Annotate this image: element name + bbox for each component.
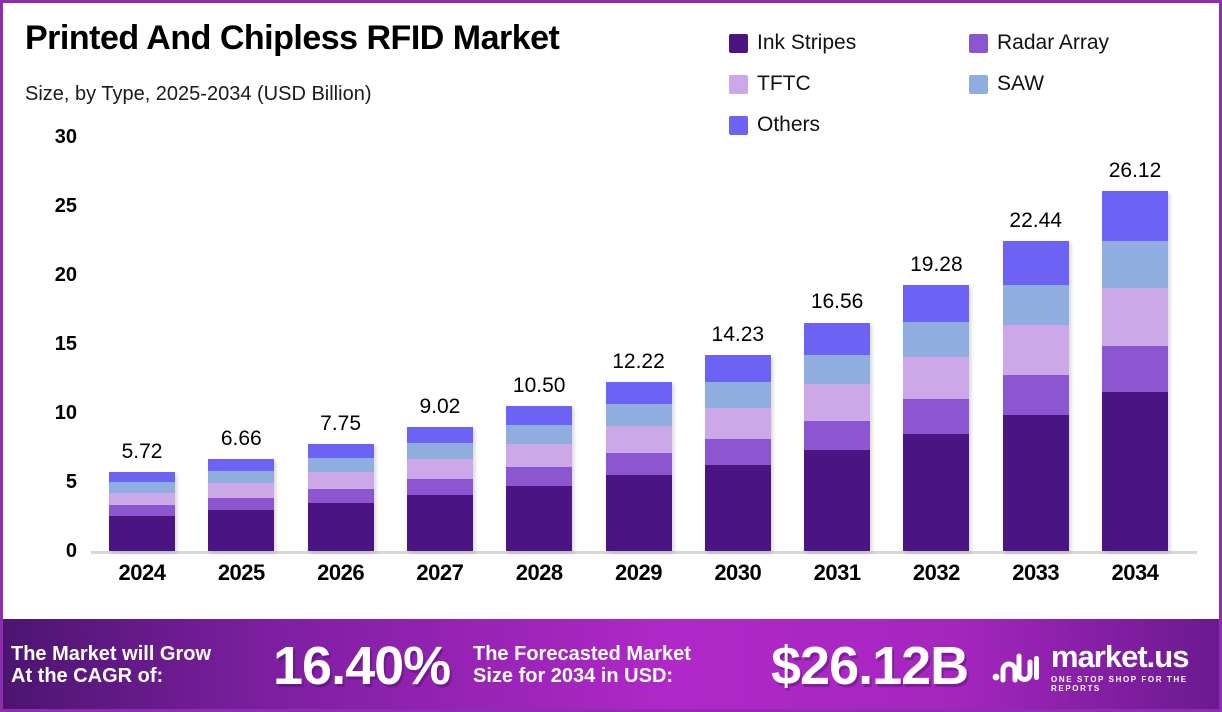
bar-stack[interactable]	[705, 355, 771, 551]
x-axis-tick-2031: 2031	[790, 560, 884, 586]
y-axis-tick-30: 30	[31, 127, 77, 147]
bar-series-container: 5.7220246.6620257.7520269.02202710.50202…	[91, 123, 1197, 551]
bar-value-label-2028: 10.50	[492, 374, 586, 398]
infographic-chart-card: Printed And Chipless RFID Market Size, b…	[0, 0, 1222, 712]
bar-segment-others[interactable]	[804, 323, 870, 355]
chart-subtitle: Size, by Type, 2025-2034 (USD Billion)	[25, 83, 371, 106]
bar-segment-saw[interactable]	[506, 425, 572, 444]
bar-segment-ink-stripes[interactable]	[308, 503, 374, 551]
bar-segment-ink-stripes[interactable]	[606, 475, 672, 551]
bar-segment-others[interactable]	[407, 427, 473, 443]
bar-value-label-2030: 14.23	[691, 323, 785, 347]
y-axis-tick-25: 25	[31, 196, 77, 216]
bar-segment-radar-array[interactable]	[804, 421, 870, 451]
bar-segment-others[interactable]	[208, 459, 274, 471]
cagr-label-line2: At the CAGR of:	[11, 665, 211, 687]
bar-value-label-2031: 16.56	[790, 290, 884, 314]
bar-segment-tftc[interactable]	[1102, 288, 1168, 346]
bar-segment-ink-stripes[interactable]	[705, 465, 771, 551]
market-us-logo[interactable]: market.us ONE STOP SHOP FOR THE REPORTS	[991, 641, 1219, 693]
bar-value-label-2026: 7.75	[294, 412, 388, 436]
bar-stack[interactable]	[606, 382, 672, 551]
x-axis-tick-2029: 2029	[592, 560, 686, 586]
bar-segment-saw[interactable]	[308, 458, 374, 472]
market-us-logo-icon	[991, 650, 1041, 684]
chart-legend: Ink StripesRadar ArrayTFTCSAWOthers	[729, 31, 1209, 137]
x-axis-tick-2034: 2034	[1088, 560, 1182, 586]
bar-segment-saw[interactable]	[705, 382, 771, 408]
x-axis-tick-2032: 2032	[889, 560, 983, 586]
legend-item-ink-stripes[interactable]: Ink Stripes	[729, 31, 969, 55]
bar-segment-tftc[interactable]	[308, 472, 374, 489]
bar-stack[interactable]	[804, 323, 870, 551]
bar-segment-tftc[interactable]	[109, 493, 175, 506]
legend-item-radar-array[interactable]: Radar Array	[969, 31, 1209, 55]
bar-segment-tftc[interactable]	[506, 444, 572, 467]
forecast-value: $26.12B	[771, 639, 968, 693]
legend-item-tftc[interactable]: TFTC	[729, 72, 969, 96]
forecast-label-line2: Size for 2034 in USD:	[473, 665, 691, 687]
bar-segment-saw[interactable]	[407, 443, 473, 459]
bar-segment-radar-array[interactable]	[1102, 346, 1168, 393]
forecast-label: The Forecasted Market Size for 2034 in U…	[473, 643, 691, 688]
plot-area: 051015202530 5.7220246.6620257.7520269.0…	[3, 123, 1222, 618]
bar-value-label-2032: 19.28	[889, 253, 983, 277]
bar-value-label-2027: 9.02	[393, 395, 487, 419]
market-us-logo-text: market.us ONE STOP SHOP FOR THE REPORTS	[1051, 641, 1219, 693]
x-axis-tick-2026: 2026	[294, 560, 388, 586]
x-axis-tick-2027: 2027	[393, 560, 487, 586]
forecast-label-line1: The Forecasted Market	[473, 643, 691, 665]
x-axis-tick-2030: 2030	[691, 560, 785, 586]
y-axis: 051015202530	[25, 123, 77, 618]
x-axis-line	[91, 551, 1197, 554]
logo-name: market.us	[1051, 641, 1219, 672]
logo-tagline: ONE STOP SHOP FOR THE REPORTS	[1051, 675, 1219, 693]
legend-label: Radar Array	[997, 31, 1109, 55]
bar-segment-saw[interactable]	[208, 471, 274, 483]
bar-segment-tftc[interactable]	[804, 384, 870, 421]
legend-item-saw[interactable]: SAW	[969, 72, 1209, 96]
chart-header: Printed And Chipless RFID Market Size, b…	[3, 3, 1222, 123]
x-axis-tick-2028: 2028	[492, 560, 586, 586]
bar-stack[interactable]	[903, 285, 969, 551]
x-axis-tick-2024: 2024	[95, 560, 189, 586]
bar-value-label-2033: 22.44	[989, 209, 1083, 233]
bar-segment-ink-stripes[interactable]	[208, 510, 274, 551]
bar-segment-tftc[interactable]	[407, 459, 473, 479]
bar-segment-saw[interactable]	[109, 482, 175, 492]
bar-value-label-2034: 26.12	[1088, 159, 1182, 183]
page-title: Printed And Chipless RFID Market	[25, 19, 559, 58]
bar-segment-radar-array[interactable]	[109, 505, 175, 515]
bar-segment-ink-stripes[interactable]	[903, 434, 969, 551]
legend-swatch-icon	[969, 75, 988, 94]
bar-segment-ink-stripes[interactable]	[109, 516, 175, 551]
bar-segment-saw[interactable]	[903, 322, 969, 357]
cagr-label: The Market will Grow At the CAGR of:	[11, 643, 211, 688]
legend-label: TFTC	[757, 72, 811, 96]
cagr-value: 16.40%	[273, 639, 450, 693]
bar-segment-tftc[interactable]	[1003, 325, 1069, 375]
legend-swatch-icon	[729, 75, 748, 94]
bar-segment-radar-array[interactable]	[606, 453, 672, 475]
bar-value-label-2029: 12.22	[592, 350, 686, 374]
bar-segment-tftc[interactable]	[208, 483, 274, 498]
legend-label: Ink Stripes	[757, 31, 856, 55]
bar-segment-saw[interactable]	[606, 404, 672, 426]
bottom-banner: The Market will Grow At the CAGR of: 16.…	[3, 619, 1219, 709]
cagr-label-line1: The Market will Grow	[11, 643, 211, 665]
bar-segment-others[interactable]	[109, 472, 175, 482]
bar-segment-others[interactable]	[606, 382, 672, 404]
bar-segment-saw[interactable]	[804, 355, 870, 385]
legend-swatch-icon	[729, 34, 748, 53]
y-axis-tick-5: 5	[31, 472, 77, 492]
bar-segment-others[interactable]	[705, 355, 771, 382]
bar-segment-radar-array[interactable]	[208, 498, 274, 510]
bar-segment-saw[interactable]	[1102, 241, 1168, 288]
bar-segment-others[interactable]	[1102, 191, 1168, 241]
y-axis-tick-0: 0	[31, 541, 77, 561]
y-axis-tick-20: 20	[31, 265, 77, 285]
bar-stack[interactable]	[1003, 241, 1069, 551]
bar-segment-ink-stripes[interactable]	[1102, 392, 1168, 551]
legend-label: SAW	[997, 72, 1044, 96]
bar-segment-radar-array[interactable]	[308, 489, 374, 503]
bar-segment-others[interactable]	[1003, 241, 1069, 284]
bar-segment-radar-array[interactable]	[407, 479, 473, 495]
bar-stack[interactable]	[109, 472, 175, 551]
bar-stack[interactable]	[407, 427, 473, 551]
x-axis-tick-2033: 2033	[989, 560, 1083, 586]
bar-segment-others[interactable]	[903, 285, 969, 322]
bar-stack[interactable]	[208, 459, 274, 551]
x-axis-tick-2025: 2025	[194, 560, 288, 586]
legend-swatch-icon	[969, 34, 988, 53]
bar-segment-radar-array[interactable]	[903, 399, 969, 434]
bar-segment-radar-array[interactable]	[705, 439, 771, 465]
bar-segment-others[interactable]	[308, 444, 374, 458]
bar-segment-radar-array[interactable]	[1003, 375, 1069, 415]
bar-segment-tftc[interactable]	[903, 357, 969, 400]
bar-segment-tftc[interactable]	[705, 408, 771, 439]
y-axis-tick-10: 10	[31, 403, 77, 423]
y-axis-tick-15: 15	[31, 334, 77, 354]
bar-stack[interactable]	[506, 406, 572, 551]
bar-segment-tftc[interactable]	[606, 426, 672, 453]
bar-stack[interactable]	[1102, 191, 1168, 551]
bar-segment-others[interactable]	[506, 406, 572, 425]
bar-segment-ink-stripes[interactable]	[804, 450, 870, 551]
bar-value-label-2025: 6.66	[194, 427, 288, 451]
bar-segment-radar-array[interactable]	[506, 467, 572, 486]
bar-value-label-2024: 5.72	[95, 440, 189, 464]
bar-segment-ink-stripes[interactable]	[506, 486, 572, 551]
bar-segment-ink-stripes[interactable]	[407, 495, 473, 551]
bar-segment-saw[interactable]	[1003, 285, 1069, 325]
bar-segment-ink-stripes[interactable]	[1003, 415, 1069, 551]
bar-stack[interactable]	[308, 444, 374, 551]
